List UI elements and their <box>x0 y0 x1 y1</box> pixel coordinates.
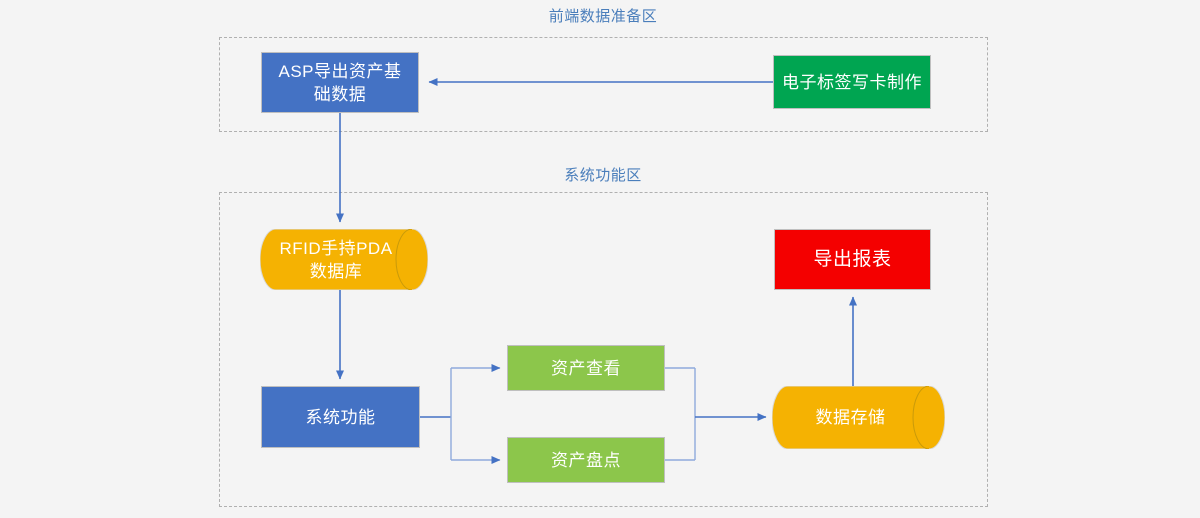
node-rfid-pda-db-label-line1: RFID手持PDA <box>279 239 392 258</box>
node-rfid-pda-db[interactable]: RFID手持PDA 数据库 <box>260 229 428 290</box>
node-rfid-pda-db-label-line2: 数据库 <box>310 262 363 281</box>
node-asset-view-label: 资产查看 <box>551 357 621 380</box>
node-data-store-label: 数据存储 <box>772 386 945 449</box>
node-asp-export-label: ASP导出资产基 础数据 <box>278 60 401 106</box>
node-export-report[interactable]: 导出报表 <box>774 229 931 290</box>
node-asset-count[interactable]: 资产盘点 <box>507 437 665 483</box>
node-asset-view[interactable]: 资产查看 <box>507 345 665 391</box>
node-data-store-label-text: 数据存储 <box>816 406 886 429</box>
node-asset-count-label: 资产盘点 <box>551 449 621 472</box>
node-asp-export[interactable]: ASP导出资产基 础数据 <box>261 52 419 113</box>
node-data-store[interactable]: 数据存储 <box>772 386 945 449</box>
diagram-canvas: 前端数据准备区 系统功能区 <box>0 0 1200 518</box>
node-sys-function[interactable]: 系统功能 <box>261 386 420 448</box>
node-sys-function-label: 系统功能 <box>306 406 376 429</box>
node-tag-writer[interactable]: 电子标签写卡制作 <box>773 55 931 109</box>
node-rfid-pda-db-label: RFID手持PDA 数据库 <box>260 229 428 290</box>
node-asp-export-label-line2: 础数据 <box>314 85 367 104</box>
node-asp-export-label-line1: ASP导出资产基 <box>278 62 401 81</box>
node-tag-writer-label: 电子标签写卡制作 <box>782 71 922 94</box>
node-export-report-label: 导出报表 <box>813 248 891 271</box>
